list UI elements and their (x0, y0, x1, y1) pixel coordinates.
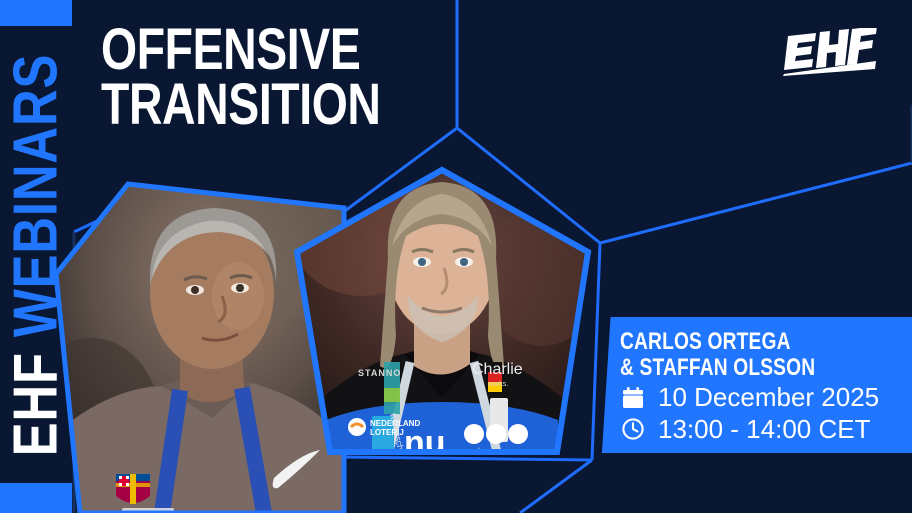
date-text: 10 December 2025 (658, 384, 879, 411)
presenter-line-2: & STAFFAN OLSSON (620, 355, 847, 381)
side-bar-bottom (0, 483, 72, 513)
info-panel: CARLOS ORTEGA & STAFFAN OLSSON 10 Decemb… (592, 317, 912, 453)
side-brand-ehf: EHF (1, 352, 70, 456)
date-row: 10 December 2025 (620, 384, 904, 411)
ehf-logo-icon (782, 28, 878, 76)
clock-icon (620, 416, 646, 442)
side-brand-label: EHF WEBINARS (0, 26, 72, 483)
time-row: 13:00 - 14:00 CET (620, 416, 904, 443)
title-line-2: TRANSITION (101, 77, 437, 132)
page-title: OFFENSIVE TRANSITION (101, 22, 521, 132)
svg-text:Charlie: Charlie (472, 361, 523, 378)
title-line-1: OFFENSIVE (101, 22, 437, 77)
svg-text:STANNO: STANNO (358, 368, 401, 378)
svg-text:works.: works. (487, 381, 508, 388)
side-brand-webinars: WEBINARS (1, 53, 70, 336)
calendar-icon (620, 385, 646, 411)
presenter-line-1: CARLOS ORTEGA (620, 329, 847, 355)
side-bar-top (0, 0, 72, 26)
photo-center-frame: STANNO Charlie works. NEDERLAND LOTERIJ … (292, 166, 592, 456)
webinar-poster: STANNO Charlie works. NEDERLAND LOTERIJ … (0, 0, 912, 513)
time-text: 13:00 - 14:00 CET (658, 416, 870, 443)
